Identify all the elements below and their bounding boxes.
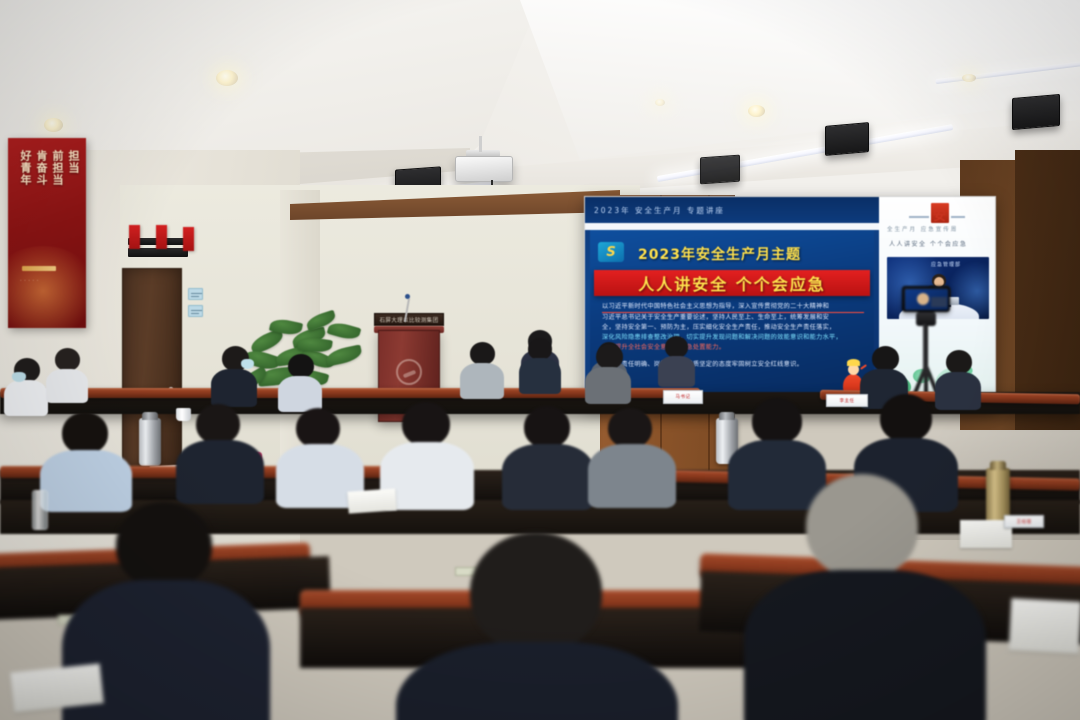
slide-title: 2023年安全生产月主题 xyxy=(638,244,801,264)
podium-microphone-head xyxy=(405,294,410,299)
downlight xyxy=(655,99,665,106)
podium-sign-text: 石屏大理以比较测集团 xyxy=(379,316,438,324)
downlight xyxy=(962,74,976,82)
downlight xyxy=(748,105,765,117)
wall-banner-line: 担当 xyxy=(65,150,82,174)
red-flag xyxy=(156,225,167,249)
red-flag xyxy=(129,225,140,249)
slide-slogan: 人人讲安全 个个会应急 xyxy=(638,271,826,295)
side-panel-slogan: 人人讲安全 个个会应急 xyxy=(889,239,967,248)
side-panel-logo: 安 xyxy=(909,203,965,225)
ceiling-speaker xyxy=(1012,94,1060,130)
conference-hall-photo: 担当 前担当 肯奋斗 好青年 · · · · · xyxy=(0,0,1080,720)
downlight xyxy=(216,70,238,86)
phone-screen xyxy=(905,289,948,310)
side-panel-subtext: 全生产月 应急宣传周 xyxy=(887,225,958,233)
flag-rail xyxy=(128,248,188,257)
recording-phone[interactable] xyxy=(902,286,950,312)
wall-banner-line: 肯奋斗 xyxy=(33,150,50,186)
video-feed-logo: 应急管理部 xyxy=(931,261,961,268)
face-mask xyxy=(12,372,26,382)
door-sign-exit xyxy=(188,288,203,300)
audience-row-front xyxy=(0,470,1080,720)
screen-header-text: 2023年 安全生产月 专题讲座 xyxy=(594,205,725,216)
face-mask xyxy=(241,359,254,369)
door-sign-notice xyxy=(188,305,203,317)
ceiling-speaker xyxy=(825,122,869,156)
side-panel-logo-text: 安 xyxy=(933,205,945,224)
red-flag xyxy=(183,227,194,251)
slide-slogan-band: 人人讲安全 个个会应急 xyxy=(594,270,870,296)
screen-header: 2023年 安全生产月 专题讲座 xyxy=(585,197,879,223)
downlight xyxy=(44,118,63,132)
slide-body-line: 以习近平新时代中国特色社会主义思想为指导，深入宣传贯彻党的二十大精神和 xyxy=(602,302,864,313)
podium-sign: 石屏大理以比较测集团 xyxy=(374,313,444,326)
banner-gold-bar xyxy=(22,266,56,271)
wall-banner-line: 好青年 xyxy=(17,150,34,186)
screen-divider xyxy=(585,223,879,230)
emblem-letter: S xyxy=(606,246,615,259)
ceiling-speaker xyxy=(700,155,740,185)
wall-banner-line: 前担当 xyxy=(49,150,66,186)
paper-sheet xyxy=(1009,598,1080,654)
wall-banner: 担当 前担当 肯奋斗 好青年 · · · · · xyxy=(8,138,86,328)
safety-month-emblem-icon: S xyxy=(598,242,624,262)
banner-subtext: · · · · · xyxy=(20,278,39,284)
